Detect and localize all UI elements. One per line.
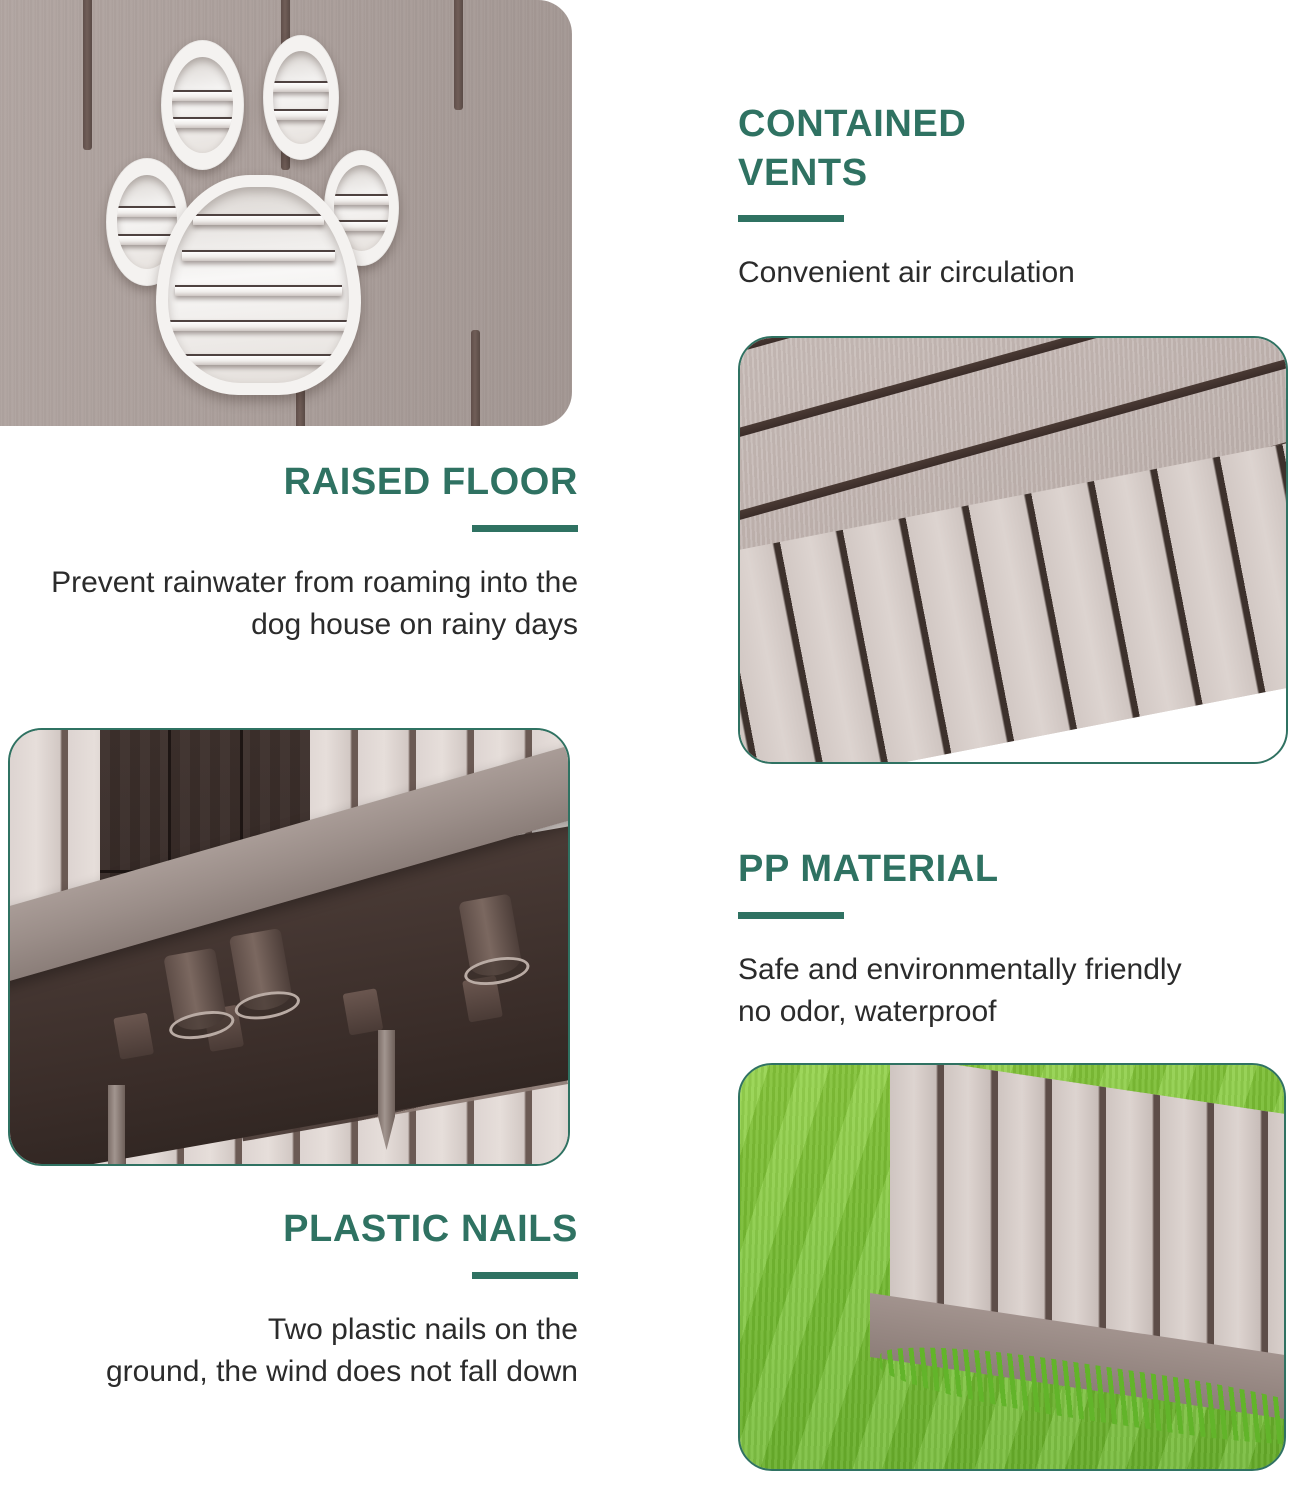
vent-slat bbox=[172, 117, 233, 128]
feature-text-plastic-nails: PLASTIC NAILS Two plastic nails on thegr… bbox=[38, 1205, 578, 1394]
feature-text-raised-floor: RAISED FLOOR Prevent rainwater from roam… bbox=[38, 458, 578, 647]
heading-rule bbox=[472, 525, 578, 532]
vent-slat bbox=[273, 109, 329, 120]
vent-well bbox=[273, 51, 329, 144]
infographic-canvas: CONTAINEDVENTS Convenient air circulatio… bbox=[0, 0, 1304, 1500]
vent-slat bbox=[193, 214, 323, 225]
paw-shaped-vent-photo bbox=[0, 0, 572, 426]
vent-slat bbox=[168, 354, 349, 365]
siding-seam bbox=[83, 0, 92, 150]
siding-seam bbox=[454, 0, 463, 110]
feature-text-pp-material: PP MATERIAL Safe and environmentally fri… bbox=[738, 845, 1283, 1034]
heading-rule bbox=[472, 1272, 578, 1279]
toe-vent-icon bbox=[161, 40, 244, 170]
vent-slat bbox=[168, 320, 349, 331]
heading-rule bbox=[738, 215, 844, 222]
vent-well bbox=[172, 57, 233, 153]
feature-description-line-2: no odor, waterproof bbox=[738, 995, 997, 1028]
base-post bbox=[163, 948, 228, 1034]
feature-description-line-1: Two plastic nails on the bbox=[268, 1313, 578, 1346]
vent-slat bbox=[182, 250, 334, 261]
feature-heading-line-1: CONTAINED bbox=[738, 103, 966, 145]
vent-slat bbox=[117, 206, 178, 217]
dog-house-on-grass-photo bbox=[738, 1063, 1286, 1471]
vent-slat bbox=[172, 90, 233, 101]
feature-description: Prevent rainwater from roaming into the … bbox=[38, 562, 578, 647]
feature-description: Convenient air circulation bbox=[738, 252, 1278, 295]
feature-description-line-2: ground, the wind does not fall down bbox=[106, 1355, 578, 1388]
vent-well bbox=[168, 187, 349, 383]
vent-slat bbox=[175, 285, 342, 296]
feature-text-contained-vents: CONTAINEDVENTS Convenient air circulatio… bbox=[738, 100, 1278, 295]
vent-slat bbox=[273, 81, 329, 92]
feature-description: Two plastic nails on theground, the wind… bbox=[38, 1309, 578, 1394]
base-post bbox=[458, 894, 523, 980]
siding-seam bbox=[471, 330, 480, 426]
feature-heading: RAISED FLOOR bbox=[38, 458, 578, 507]
toe-vent-icon bbox=[263, 35, 339, 160]
feature-heading: PLASTIC NAILS bbox=[38, 1205, 578, 1254]
feature-description: Safe and environmentally friendlyno odor… bbox=[738, 949, 1283, 1034]
feature-description-line-1: Safe and environmentally friendly bbox=[738, 953, 1182, 986]
base-rib bbox=[343, 988, 384, 1035]
vent-slat bbox=[334, 194, 390, 205]
base-underside-photo bbox=[8, 728, 570, 1166]
feature-heading: PP MATERIAL bbox=[738, 845, 1283, 894]
base-post bbox=[229, 928, 294, 1014]
feature-heading: CONTAINEDVENTS bbox=[738, 100, 1278, 197]
plastic-nail-spike bbox=[108, 1085, 125, 1166]
roof-corner-photo bbox=[738, 336, 1288, 764]
base-rib bbox=[113, 1012, 154, 1059]
feature-heading-line-2: VENTS bbox=[738, 152, 868, 194]
heading-rule bbox=[738, 912, 844, 919]
paw-pad-vent-icon bbox=[156, 175, 361, 395]
